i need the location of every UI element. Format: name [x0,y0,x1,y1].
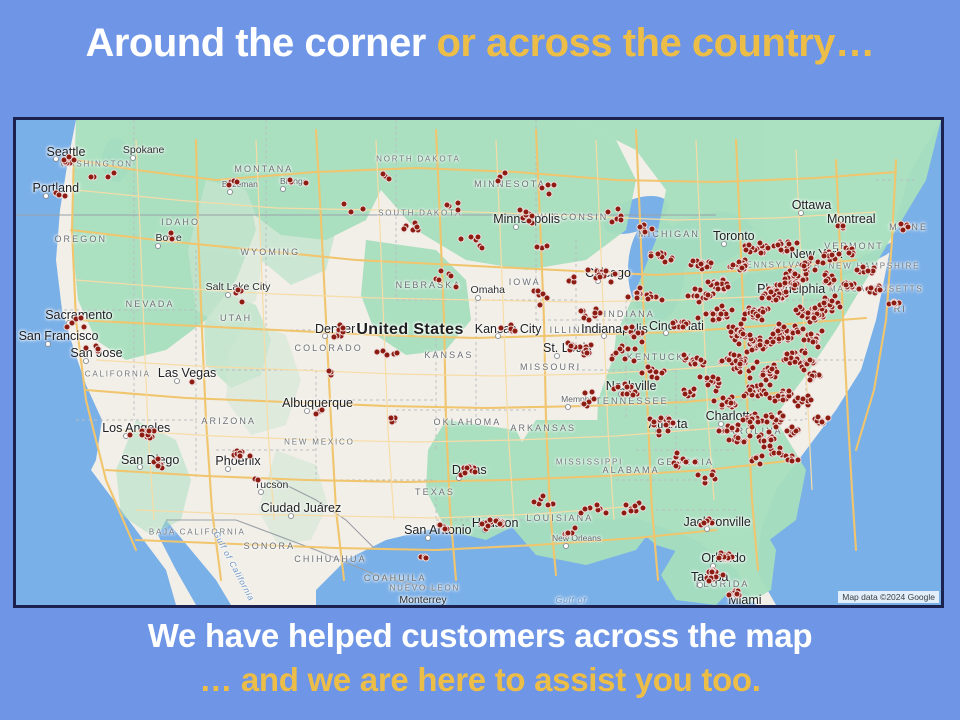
map-canvas[interactable]: WASHINGTONOREGONIDAHOMONTANAWYOMINGNEVAD… [16,120,941,605]
customer-location-dot [582,506,589,513]
customer-location-dot [730,261,737,268]
customer-location-dot [785,388,792,395]
customer-location-dot [791,271,798,278]
customer-location-dot [154,456,161,463]
customer-location-dot [188,379,195,386]
customer-location-dot [565,529,572,536]
customer-location-dot [689,258,696,265]
customer-location-dot [743,247,750,254]
customer-location-dot [608,356,615,363]
customer-location-dot [726,436,733,443]
headline-part-gold: or across the country… [437,21,875,65]
customer-location-dot [697,261,704,268]
customer-location-dot [808,331,815,338]
customer-location-dot [571,273,578,280]
customer-location-dot [736,340,743,347]
customer-location-dot [823,278,830,285]
customer-location-dot [479,521,486,528]
customer-location-dot [846,250,853,257]
customer-location-dot [812,266,819,273]
customer-location-dot [478,245,485,252]
customer-location-dot [802,349,809,356]
customer-location-dot [756,240,763,247]
map-city-marker [258,489,264,495]
customer-location-dot [701,520,708,527]
customer-location-dot [704,291,711,298]
customer-location-dot [800,367,807,374]
customer-location-dot [683,459,690,466]
customer-location-dot [865,268,872,275]
map-city-marker [83,358,89,364]
map-attribution: Map data ©2024 Google [838,591,939,603]
customer-location-dot [694,314,701,321]
map-city-marker [663,330,669,336]
customer-location-dot [545,501,552,508]
customer-location-dot [437,522,444,529]
customer-location-dot [685,292,692,299]
customer-location-dot [760,308,767,315]
customer-location-dot [127,432,134,439]
customer-location-dot [746,375,753,382]
customer-location-dot [793,240,800,247]
customer-location-dot [88,173,95,180]
customer-location-dot [769,413,776,420]
customer-location-dot [326,368,333,375]
customer-location-dot [537,302,544,309]
customer-location-dot [584,267,591,274]
customer-location-dot [498,325,505,332]
map-city-marker [554,353,560,359]
customer-location-dot [627,508,634,515]
customer-location-dot [757,460,764,467]
customer-location-dot [238,298,245,305]
customer-location-dot [80,324,87,331]
map-city-marker [225,292,231,298]
customer-location-dot [766,443,773,450]
customer-location-dot [776,335,783,342]
customer-location-dot [711,398,718,405]
customer-location-dot [631,334,638,341]
customer-location-dot [757,382,764,389]
customer-location-dot [769,330,776,337]
customer-location-dot [461,470,468,477]
customer-location-dot [811,314,818,321]
customer-location-dot [597,274,604,281]
customer-location-dot [806,376,813,383]
map-city-marker [704,526,710,532]
map-city-marker [130,155,136,161]
customer-location-dot [234,287,241,294]
customer-location-dot [690,385,697,392]
customer-location-dot [447,273,454,280]
customer-location-dot [534,244,541,251]
customer-location-dot [724,284,731,291]
map-city-marker [304,408,310,414]
customer-location-dot [457,235,464,242]
customer-location-dot [741,439,748,446]
map-city-marker [425,535,431,541]
customer-location-dot [807,255,814,262]
map-container[interactable]: WASHINGTONOREGONIDAHOMONTANAWYOMINGNEVAD… [13,117,944,608]
customer-location-dot [715,428,722,435]
customer-location-dot [539,184,546,191]
customer-location-dot [799,395,806,402]
customer-location-dot [444,201,451,208]
customer-location-dot [891,300,898,307]
customer-location-dot [765,295,772,302]
customer-location-dot [302,179,309,186]
customer-location-dot [773,297,780,304]
map-city-marker [732,605,738,608]
customer-location-dot [740,392,747,399]
customer-location-dot [719,572,726,579]
customer-location-dot [736,360,743,367]
customer-location-dot [111,170,118,177]
customer-location-dot [642,229,649,236]
customer-location-dot [636,223,643,230]
customer-location-dot [759,452,766,459]
customer-location-dot [638,369,645,376]
customer-location-dot [818,419,825,426]
customer-location-dot [512,328,519,335]
customer-location-dot [734,434,741,441]
customer-location-dot [809,339,816,346]
map-city-marker [565,404,571,410]
customer-location-dot [467,233,474,240]
map-city-marker [475,295,481,301]
customer-location-dot [639,339,646,346]
customer-location-dot [670,319,677,326]
customer-location-dot [348,209,355,216]
customer-location-dot [594,501,601,508]
customer-location-dot [631,357,638,364]
customer-location-dot [95,345,102,352]
customer-location-dot [546,191,553,198]
customer-location-dot [82,344,89,351]
map-city-marker [601,333,607,339]
customer-location-dot [772,423,779,430]
customer-location-dot [792,281,799,288]
customer-location-dot [757,250,764,257]
customer-location-dot [663,421,670,428]
customer-location-dot [728,399,735,406]
footer: We have helped customers across the map … [0,614,960,701]
map-city-marker [45,341,51,347]
customer-location-dot [739,265,746,272]
customer-location-dot [360,205,367,212]
map-city-marker [280,186,286,192]
map-city-marker [174,378,180,384]
customer-location-dot [648,225,655,232]
customer-location-dot [755,419,762,426]
map-city-marker [721,241,727,247]
customer-location-dot [673,462,680,469]
customer-location-dot [716,554,723,561]
map-city-marker [225,466,231,472]
customer-location-dot [400,225,407,232]
customer-location-dot [729,425,736,432]
customer-location-dot [780,396,787,403]
customer-location-dot [709,310,716,317]
customer-location-dot [704,279,711,286]
customer-location-dot [385,176,392,183]
customer-location-dot [247,453,254,460]
customer-location-dot [658,414,665,421]
customer-location-dot [855,285,862,292]
customer-location-dot [840,223,847,230]
customer-location-dot [831,292,838,299]
customer-location-dot [710,316,717,323]
customer-location-dot [608,278,615,285]
map-city-marker [410,605,416,608]
customer-location-dot [789,424,796,431]
customer-location-dot [767,382,774,389]
customer-location-dot [236,453,243,460]
customer-location-dot [652,369,659,376]
customer-location-dot [613,349,620,356]
customer-location-dot [486,516,493,523]
customer-location-dot [664,427,671,434]
map-city-marker [495,333,501,339]
customer-location-dot [472,469,479,476]
customer-location-dot [647,253,654,260]
headline: Around the corner or across the country… [0,22,960,64]
customer-location-dot [340,325,347,332]
customer-location-dot [155,462,162,469]
customer-location-dot [747,332,754,339]
customer-location-dot [673,450,680,457]
customer-location-dot [633,294,640,301]
customer-location-dot [781,280,788,287]
customer-location-dot [774,242,781,249]
customer-location-dot [393,349,400,356]
customer-location-dot [782,289,789,296]
customer-location-dot [233,178,240,185]
customer-location-dot [679,323,686,330]
customer-location-dot [650,419,657,426]
customer-location-dot [694,292,701,299]
customer-location-dot [718,303,725,310]
customer-location-dot [590,396,597,403]
customer-location-dot [602,268,609,275]
customer-location-dot [603,510,610,517]
customer-location-dot [775,450,782,457]
customer-location-dot [644,363,651,370]
customer-location-dot [639,505,646,512]
customer-location-dot [734,590,741,597]
customer-location-dot [820,300,827,307]
customer-location-dot [630,391,637,398]
customer-location-dot [843,282,850,289]
customer-location-dot [614,206,621,213]
customer-location-dot [623,502,630,509]
customer-location-dot [63,323,70,330]
customer-location-dot [605,209,612,216]
map-city-marker [798,210,804,216]
customer-location-dot [691,360,698,367]
headline-part-white: Around the corner [85,21,436,65]
customer-location-dot [801,337,808,344]
customer-location-dot [414,223,421,230]
customer-location-dot [423,555,430,562]
customer-location-dot [453,283,460,290]
map-city-marker [563,543,569,549]
customer-location-dot [589,389,596,396]
footer-line-1: We have helped customers across the map [0,614,960,658]
customer-location-dot [331,333,338,340]
customer-location-dot [821,252,828,259]
customer-location-dot [384,352,391,359]
customer-location-dot [645,295,652,302]
customer-location-dot [759,316,766,323]
customer-location-dot [341,201,348,208]
customer-location-dot [438,267,445,274]
customer-location-dot [715,285,722,292]
customer-location-dot [719,401,726,408]
customer-location-dot [139,432,146,439]
customer-location-dot [583,350,590,357]
map-city-marker [322,333,328,339]
customer-location-dot [55,192,62,199]
customer-location-dot [800,262,807,269]
customer-location-dot [454,207,461,214]
customer-location-dot [682,390,689,397]
customer-location-dot [523,208,530,215]
map-city-marker [513,224,519,230]
customer-location-dot [668,257,675,264]
customer-location-dot [66,154,73,161]
customer-location-dot [624,346,631,353]
customer-location-dot [655,427,662,434]
customer-location-dot [670,420,677,427]
customer-location-dot [543,295,550,302]
customer-location-dot [698,357,705,364]
customer-location-dot [808,397,815,404]
customer-location-dot [612,270,619,277]
customer-location-dot [502,170,509,177]
customer-location-dot [624,390,631,397]
customer-location-dot [632,345,639,352]
customer-location-dot [543,243,550,250]
customer-location-dot [819,260,826,267]
customer-location-dot [829,251,836,258]
customer-location-dot [525,217,532,224]
map-city-marker [53,156,59,162]
customer-location-dot [286,176,293,183]
customer-location-dot [474,234,481,241]
customer-location-dot [623,383,630,390]
customer-location-dot [792,359,799,366]
map-city-marker [288,513,294,519]
customer-location-dot [768,366,775,373]
customer-location-dot [78,315,85,322]
customer-location-dot [784,351,791,358]
customer-location-dot [551,181,558,188]
customer-location-dot [455,199,462,206]
map-city-marker [227,189,233,195]
customer-location-dot [725,591,732,598]
customer-location-dot [780,323,787,330]
customer-location-dot [746,418,753,425]
customer-location-dot [750,365,757,372]
customer-location-dot [792,307,799,314]
customer-location-dot [795,403,802,410]
customer-location-dot [719,394,726,401]
customer-location-dot [681,351,688,358]
customer-location-dot [746,387,753,394]
customer-location-dot [779,412,786,419]
customer-location-dot [540,492,547,499]
customer-location-dot [567,343,574,350]
footer-line-2: … and we are here to assist you too. [0,658,960,702]
customer-location-dot [730,352,737,359]
customer-location-dot [705,382,712,389]
customer-location-dot [495,177,502,184]
customer-location-dot [145,427,152,434]
customer-location-dot [62,192,69,199]
customer-location-dot [254,476,261,483]
customer-location-dot [697,373,704,380]
customer-location-dot [800,326,807,333]
map-city-marker [137,464,143,470]
customer-location-dot [581,401,588,408]
customer-location-dot [582,390,589,397]
customer-location-dot [705,578,712,585]
customer-location-dot [624,293,631,300]
customer-location-dot [578,307,585,314]
customer-location-dot [496,521,503,528]
customer-location-dot [168,229,175,236]
customer-location-dot [622,355,629,362]
customer-location-dot [718,310,725,317]
customer-location-dot [592,309,599,316]
customer-location-dot [318,406,325,413]
map-city-marker [43,193,49,199]
customer-location-dot [740,330,747,337]
customer-location-dot [691,458,698,465]
customer-location-dot [585,317,592,324]
map-city-marker [155,243,161,249]
customer-location-dot [807,357,814,364]
customer-location-dot [818,327,825,334]
customer-location-dot [659,370,666,377]
customer-location-dot [738,321,745,328]
customer-location-dot [572,525,579,532]
customer-location-dot [899,227,906,234]
customer-location-dot [709,373,716,380]
customer-location-dot [530,499,537,506]
customer-location-dot [836,303,843,310]
customer-location-dot [701,474,708,481]
map-city-marker [697,582,703,588]
customer-location-dot [436,277,443,284]
customer-location-dot [655,250,662,257]
customer-location-dot [168,236,175,243]
customer-location-dot [877,287,884,294]
customer-location-dot [868,285,875,292]
customer-location-dot [709,472,716,479]
customer-location-dot [789,458,796,465]
customer-location-dot [618,216,625,223]
customer-location-dot [387,414,394,421]
customer-location-dot [786,241,793,248]
